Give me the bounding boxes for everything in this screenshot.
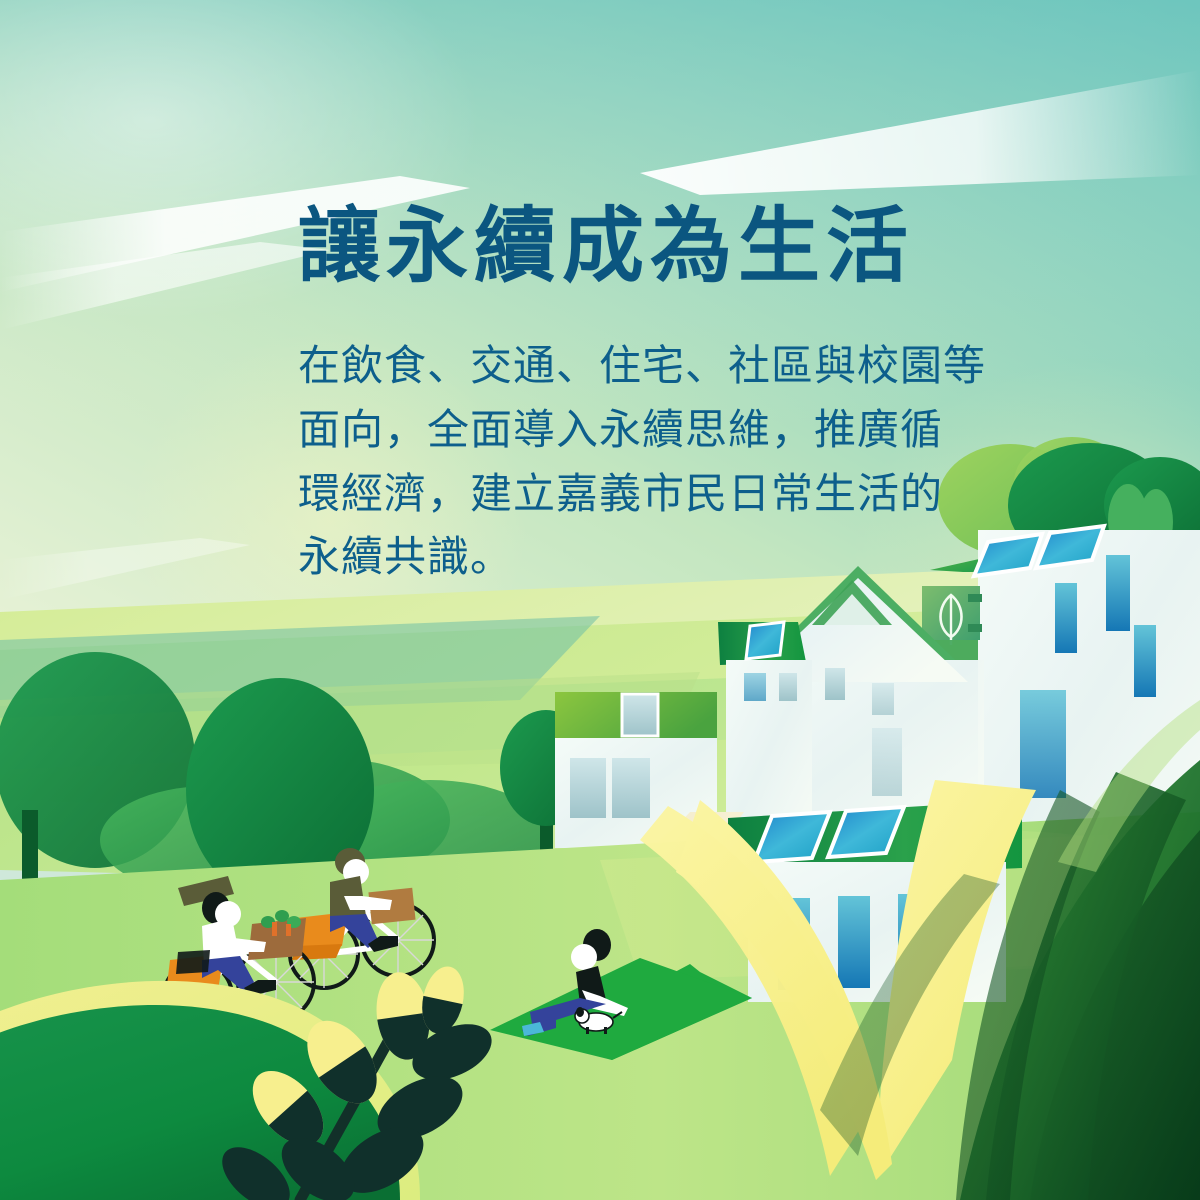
body-paragraph: 在飲食、交通、住宅、社區與校園等 面向，全面導入永續思維，推廣循 環經濟，建立嘉… [298,334,938,589]
shop-upper-window [622,694,658,736]
body-line: 在飲食、交通、住宅、社區與校園等 [298,334,938,398]
dormer-solar-panel [746,622,784,659]
poster-canvas: 讓永續成為生活 在飲食、交通、住宅、社區與校園等 面向，全面導入永續思維，推廣循… [0,0,1200,1200]
body-line: 永續共識。 [298,525,938,589]
scene-illustration [0,0,1200,1200]
body-line: 環經濟，建立嘉義市民日常生活的 [298,462,938,526]
headline-block: 讓永續成為生活 在飲食、交通、住宅、社區與校園等 面向，全面導入永續思維，推廣循… [298,206,938,589]
apartment-leaf-sign [922,586,982,645]
body-line: 面向，全面導入永續思維，推廣循 [298,398,938,462]
page-title: 讓永續成為生活 [298,206,938,288]
